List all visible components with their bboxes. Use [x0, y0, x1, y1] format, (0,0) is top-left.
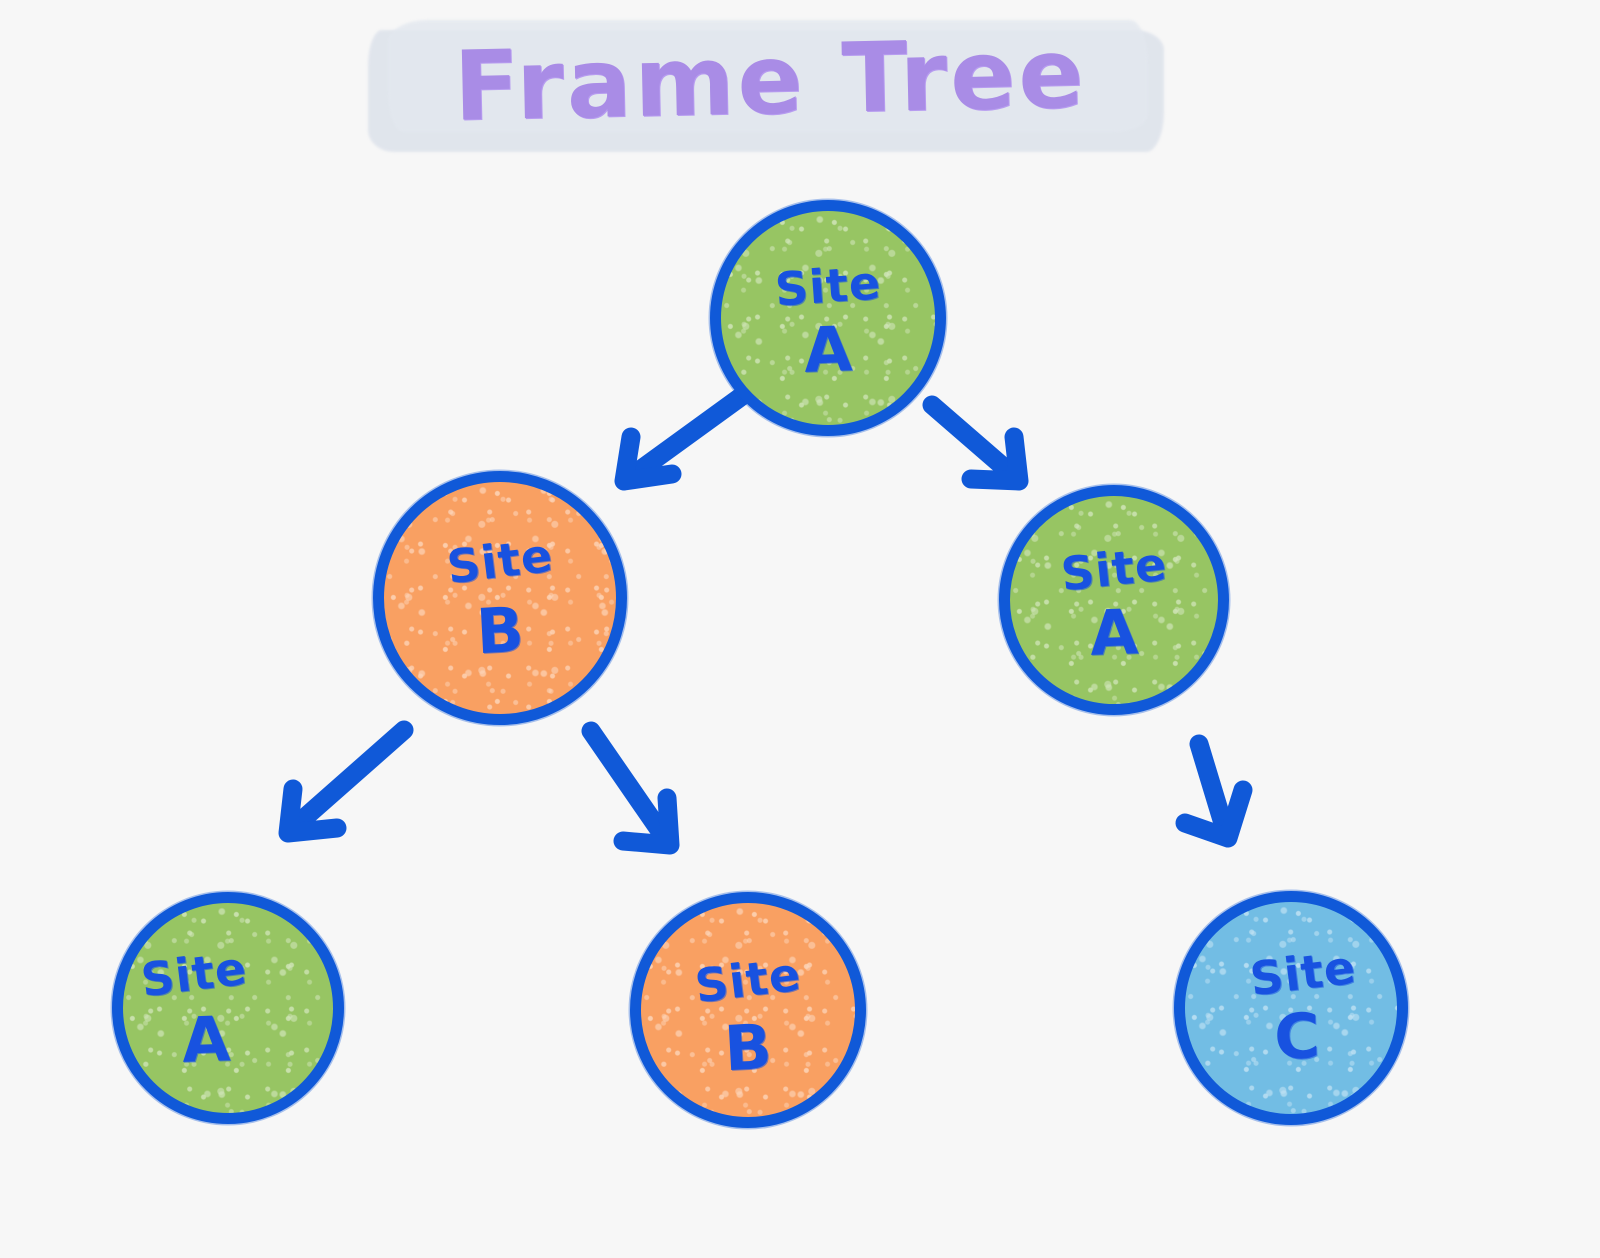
node-label-bottom: A: [1009, 598, 1219, 667]
edge-site-a-mid-to-site-c-leaf: [1185, 744, 1243, 838]
node-site-a-leaf[interactable]: Site A: [112, 892, 344, 1124]
page-title: Frame Tree: [359, 15, 1181, 144]
node-label-bottom: A: [720, 315, 936, 384]
edge-site-b-to-site-a-leaf: [288, 730, 404, 833]
node-site-c-leaf[interactable]: Site C: [1174, 891, 1408, 1125]
edge-site-b-to-site-b-leaf: [591, 731, 670, 845]
node-label-bottom: B: [640, 1011, 857, 1084]
node-label-bottom: C: [1190, 1002, 1404, 1071]
node-site-b-mid[interactable]: Site B: [373, 471, 627, 725]
node-label-top: Site: [1195, 937, 1411, 1008]
edge-root-to-site-a-mid: [932, 405, 1019, 481]
node-label-top: Site: [720, 256, 937, 317]
frame-tree-diagram: Frame Tree: [0, 0, 1600, 1258]
node-label-top: Site: [1008, 535, 1220, 602]
node-site-b-leaf[interactable]: Site B: [630, 892, 866, 1128]
node-label-top: Site: [87, 938, 301, 1009]
node-label-top: Site: [382, 524, 618, 598]
node-site-a-root[interactable]: Site A: [710, 200, 946, 436]
edge-root-to-site-b: [624, 396, 742, 481]
node-label-bottom: B: [383, 594, 618, 668]
diagram-title: Frame Tree: [360, 14, 1180, 174]
node-label-top: Site: [639, 944, 857, 1016]
node-label-bottom: A: [100, 1005, 312, 1074]
node-site-a-mid[interactable]: Site A: [999, 485, 1229, 715]
